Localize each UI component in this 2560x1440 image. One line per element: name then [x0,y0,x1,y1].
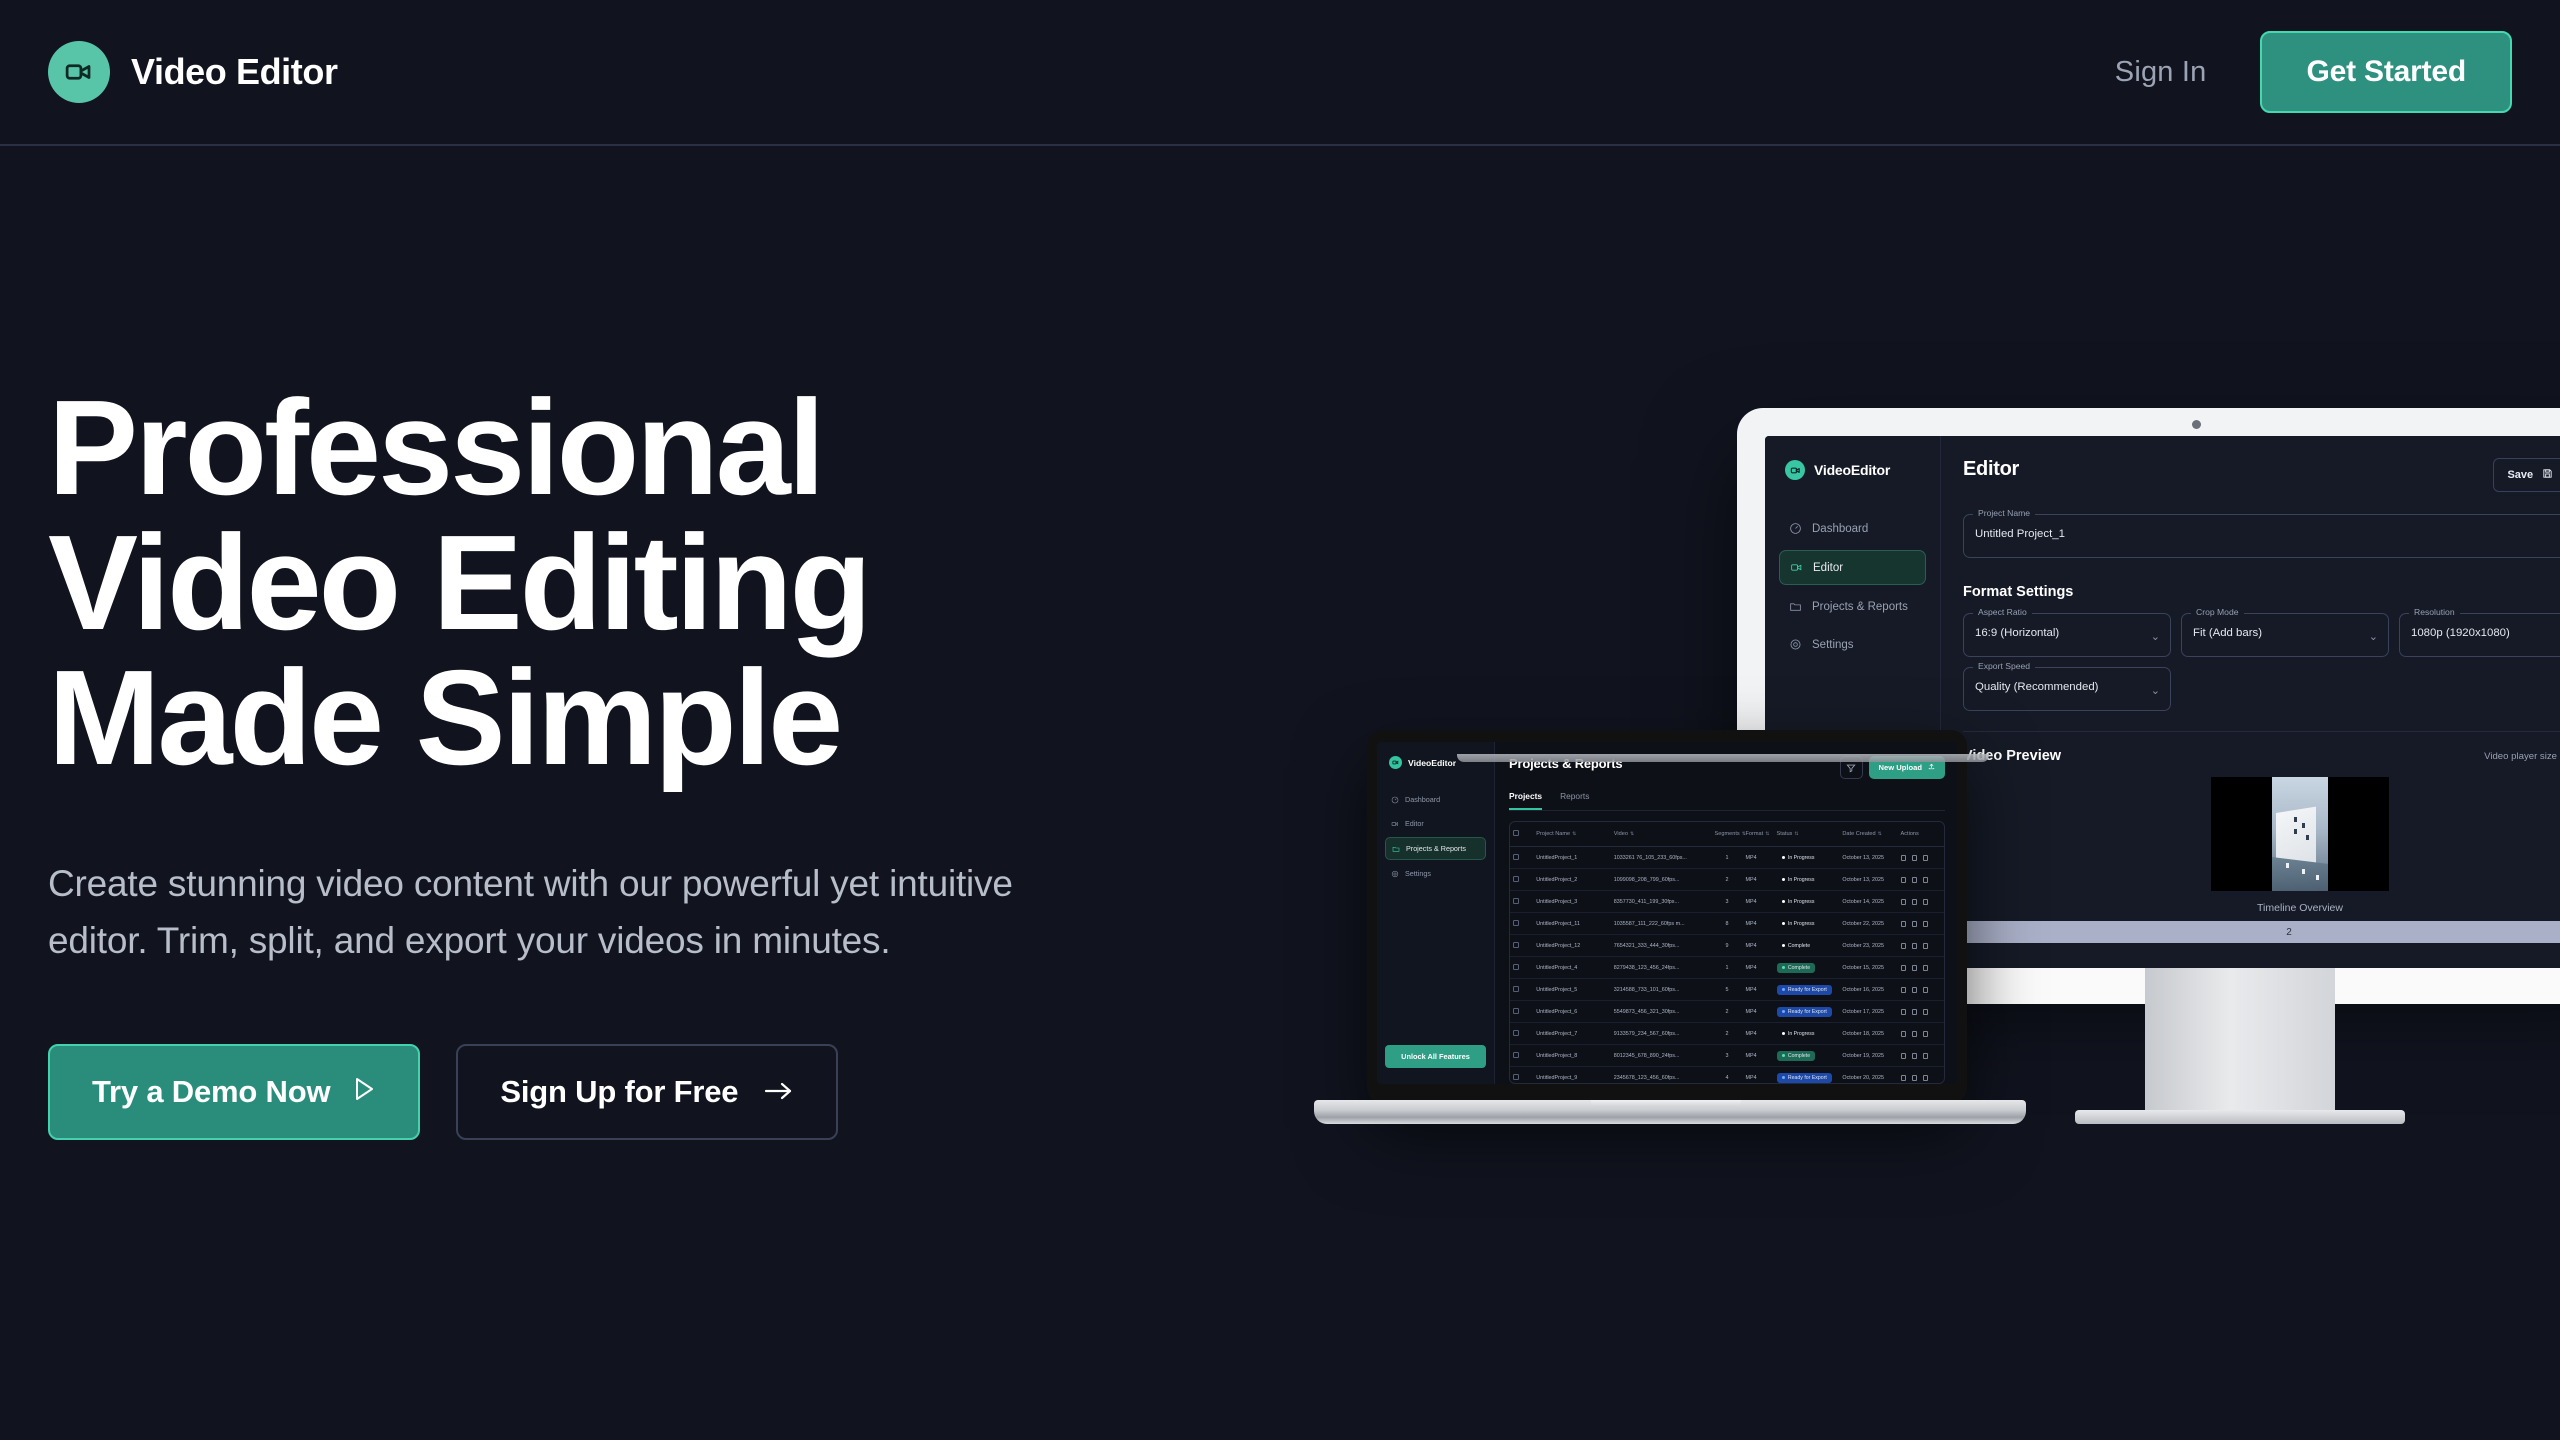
player-size-label: Video player size [2484,751,2557,762]
cell-date-created: October 14, 2025 [1839,891,1897,913]
cell-date-created: October 18, 2025 [1839,1023,1897,1045]
status-badge: In Progress [1777,1029,1820,1039]
row-checkbox-cell[interactable] [1510,891,1533,913]
status-badge: In Progress [1777,919,1820,929]
save-button[interactable]: Save [2493,458,2560,492]
edit-icon[interactable] [1901,987,1906,993]
cell-status: Complete [1774,957,1840,979]
hero-section: Professional Video Editing Made Simple C… [48,380,1148,1140]
status-badge: Ready for Export [1777,985,1832,995]
status-badge: In Progress [1777,853,1820,863]
checkbox-icon[interactable] [1513,942,1519,948]
cell-actions[interactable] [1898,1045,1945,1067]
download-icon[interactable] [1912,965,1917,971]
laptop-sidebar: VideoEditor Dashboard Editor [1377,742,1495,1084]
sidebar-item-label: Editor [1813,562,1843,574]
tab-reports[interactable]: Reports [1560,791,1589,810]
checkbox-icon[interactable] [1513,876,1519,882]
cell-format: MP4 [1743,979,1774,1001]
table-body: UntitledProject_11033261 76_105_233_60fp… [1510,847,1944,1085]
sort-icon: ⇅ [1878,831,1882,837]
cell-segments: 2 [1712,1023,1743,1045]
folder-icon [1392,845,1400,853]
sidebar-item-editor[interactable]: Editor [1385,813,1486,834]
laptop-app-brand-label: VideoEditor [1408,758,1456,768]
col-segments[interactable]: Segments⇅ [1712,822,1743,847]
laptop-lid: VideoEditor Dashboard Editor [1367,730,1967,1104]
monitor-page-title: Editor [1963,458,2019,481]
table-row[interactable]: UntitledProject_111035587_111_222_60fps … [1510,913,1944,935]
checkbox-icon[interactable] [1513,830,1519,836]
table-row[interactable]: UntitledProject_53214588_733_101_60fps..… [1510,979,1944,1001]
format-settings-row-2: Export Speed Quality (Recommended) ⌄ [1963,667,2560,711]
sort-icon: ⇅ [1765,831,1769,837]
laptop-mockup: VideoEditor Dashboard Editor [1367,730,1987,1130]
download-icon[interactable] [1912,877,1917,883]
divider [1963,731,2560,732]
cell-segments: 1 [1712,957,1743,979]
project-name-value: Untitled Project_1 [1975,528,2560,540]
project-name-label: Project Name [1973,508,2035,518]
cell-video: 2345678_123_456_60fps... [1611,1067,1712,1085]
download-icon[interactable] [1912,987,1917,993]
status-badge: Complete [1777,963,1816,973]
cell-format: MP4 [1743,957,1774,979]
sidebar-item-projects-reports[interactable]: Projects & Reports [1385,837,1486,860]
gauge-icon [1391,796,1399,804]
export-speed-value: Quality (Recommended) [1975,681,2159,693]
monitor-app-brand: VideoEditor [1779,460,1926,480]
sidebar-item-label: Settings [1812,639,1854,651]
download-icon[interactable] [1912,921,1917,927]
crop-mode-label: Crop Mode [2191,607,2244,617]
checkbox-icon[interactable] [1513,1052,1519,1058]
delete-icon[interactable] [1923,1031,1928,1037]
video-camera-icon [1790,561,1803,574]
sidebar-item-label: Dashboard [1812,523,1868,535]
edit-icon[interactable] [1901,877,1906,883]
row-checkbox-cell[interactable] [1510,869,1533,891]
col-format[interactable]: Format⇅ [1743,822,1774,847]
cell-date-created: October 19, 2025 [1839,1045,1897,1067]
checkbox-icon[interactable] [1513,1074,1519,1080]
new-upload-label: New Upload [1879,763,1922,772]
hero-cta-group: Try a Demo Now Sign Up for Free [48,1044,1148,1140]
cell-format: MP4 [1743,935,1774,957]
cell-actions[interactable] [1898,1023,1945,1045]
edit-icon[interactable] [1901,921,1906,927]
sidebar-item-label: Dashboard [1405,795,1440,804]
video-preview-player[interactable] [2211,777,2389,891]
cell-format: MP4 [1743,869,1774,891]
cell-project-name: UntitledProject_2 [1533,869,1611,891]
delete-icon[interactable] [1923,943,1928,949]
laptop-base [1314,1100,2026,1124]
sort-icon: ⇅ [1794,831,1798,837]
export-speed-select[interactable]: Export Speed Quality (Recommended) ⌄ [1963,667,2171,711]
delete-icon[interactable] [1923,921,1928,927]
cell-segments: 2 [1712,869,1743,891]
table-row[interactable]: UntitledProject_65549873_456_321_30fps..… [1510,1001,1944,1023]
monitor-main: Editor Save Export Project Name Untitled [1941,436,2560,968]
table-row[interactable]: UntitledProject_38357730_411_199_30fps..… [1510,891,1944,913]
monitor-app-brand-label: VideoEditor [1814,462,1890,478]
cell-project-name: UntitledProject_9 [1533,1067,1611,1085]
laptop-nav: Dashboard Editor Projects & Reports [1385,789,1486,884]
cell-segments: 8 [1712,913,1743,935]
video-preview-header: Video Preview Video player size [1963,748,2560,764]
row-checkbox-cell[interactable] [1510,979,1533,1001]
cell-video: 5549873_456_321_30fps... [1611,1001,1712,1023]
format-settings-title: Format Settings [1963,584,2560,600]
checkbox-icon[interactable] [1513,898,1519,904]
delete-icon[interactable] [1923,1009,1928,1015]
cell-actions[interactable] [1898,1001,1945,1023]
project-name-field[interactable]: Project Name Untitled Project_1 [1963,514,2560,558]
delete-icon[interactable] [1923,877,1928,883]
gauge-icon [1789,522,1802,535]
cell-video: 9133579_234_567_60fps... [1611,1023,1712,1045]
laptop-tabs: Projects Reports [1509,791,1945,811]
edit-icon[interactable] [1901,1053,1906,1059]
checkbox-icon[interactable] [1513,1008,1519,1014]
cell-segments: 4 [1712,1067,1743,1085]
row-checkbox-cell[interactable] [1510,935,1533,957]
edit-icon[interactable] [1901,1031,1906,1037]
hero-subtitle: Create stunning video content with our p… [48,855,1108,970]
cell-project-name: UntitledProject_12 [1533,935,1611,957]
timeline-overview-label: Timeline Overview [1963,902,2560,914]
cell-actions[interactable] [1898,979,1945,1001]
col-date-created[interactable]: Date Created⇅ [1839,822,1897,847]
cell-date-created: October 23, 2025 [1839,935,1897,957]
monitor-nav: Dashboard Editor Projects & Reports Sett… [1779,512,1926,661]
cell-segments: 3 [1712,891,1743,913]
col-project-name[interactable]: Project Name⇅ [1533,822,1611,847]
laptop-main: Projects & Reports New Upload [1495,742,1957,1084]
cell-video: 1035587_111_222_60fps m... [1611,913,1712,935]
hero-title-line-3: Made Simple [48,650,1148,785]
cell-status: Complete [1774,1045,1840,1067]
cell-status: Complete [1774,935,1840,957]
cell-segments: 3 [1712,1045,1743,1067]
crop-mode-value: Fit (Add bars) [2193,627,2377,639]
row-checkbox-cell[interactable] [1510,957,1533,979]
crop-mode-select[interactable]: Crop Mode Fit (Add bars) ⌄ [2181,613,2389,657]
cell-actions[interactable] [1898,1067,1945,1085]
player-size-control[interactable]: Video player size [2484,751,2560,762]
cell-status: In Progress [1774,891,1840,913]
sidebar-item-settings[interactable]: Settings [1385,863,1486,884]
page-title: Professional Video Editing Made Simple [48,380,1148,785]
cell-status: In Progress [1774,847,1840,869]
row-checkbox-cell[interactable] [1510,1023,1533,1045]
cell-status: Ready for Export [1774,979,1840,1001]
cell-video: 7654321_333_444_30fps... [1611,935,1712,957]
cell-segments: 9 [1712,935,1743,957]
cell-project-name: UntitledProject_6 [1533,1001,1611,1023]
sidebar-item-label: Projects & Reports [1812,601,1908,613]
cell-format: MP4 [1743,1001,1774,1023]
edit-icon[interactable] [1901,943,1906,949]
download-icon[interactable] [1912,1053,1917,1059]
resolution-label: Resolution [2409,607,2460,617]
arrow-right-icon [764,1074,794,1110]
unlock-all-features-button[interactable]: Unlock All Features [1385,1045,1486,1068]
cell-date-created: October 20, 2025 [1839,1067,1897,1085]
resolution-select[interactable]: Resolution 1080p (1920x1080) ⌄ [2399,613,2560,657]
monitor-topbar: Editor Save Export [1963,458,2560,492]
checkbox-icon[interactable] [1513,1030,1519,1036]
header-actions: Sign In Get Started [2115,31,2512,113]
cell-video: 8012345_678_890_24fps... [1611,1045,1712,1067]
sign-up-free-button[interactable]: Sign Up for Free [456,1044,838,1140]
tab-projects[interactable]: Projects [1509,791,1542,810]
cell-segments: 2 [1712,1001,1743,1023]
cell-actions[interactable] [1898,957,1945,979]
sidebar-item-label: Projects & Reports [1406,844,1466,853]
table-row[interactable]: UntitledProject_92345678_123_456_60fps..… [1510,1067,1944,1085]
resolution-value: 1080p (1920x1080) [2411,627,2560,639]
download-icon[interactable] [1912,1031,1917,1037]
sidebar-item-editor[interactable]: Editor [1779,550,1926,585]
try-demo-button[interactable]: Try a Demo Now [48,1044,420,1140]
sidebar-item-projects-reports[interactable]: Projects & Reports [1779,590,1926,623]
cell-date-created: October 13, 2025 [1839,869,1897,891]
cell-segments: 5 [1712,979,1743,1001]
upload-icon [1928,763,1935,772]
sidebar-item-label: Editor [1405,819,1424,828]
edit-icon[interactable] [1901,1009,1906,1015]
brand[interactable]: Video Editor [48,41,338,103]
aspect-ratio-value: 16:9 (Horizontal) [1975,627,2159,639]
cell-video: 8279438_123_456_24fps... [1611,957,1712,979]
gear-icon [1391,870,1399,878]
delete-icon[interactable] [1923,855,1928,861]
table-row[interactable]: UntitledProject_48279438_123_456_24fps..… [1510,957,1944,979]
status-badge: Complete [1777,941,1816,951]
edit-icon[interactable] [1901,965,1906,971]
cell-video: 8357730_411_199_30fps... [1611,891,1712,913]
sidebar-item-dashboard[interactable]: Dashboard [1385,789,1486,810]
cell-project-name: UntitledProject_7 [1533,1023,1611,1045]
checkbox-icon[interactable] [1513,920,1519,926]
table-row[interactable]: UntitledProject_79133579_234_567_60fps..… [1510,1023,1944,1045]
table-row[interactable]: UntitledProject_11033261 76_105_233_60fp… [1510,847,1944,869]
checkbox-icon[interactable] [1513,964,1519,970]
checkbox-icon[interactable] [1513,986,1519,992]
cell-project-name: UntitledProject_5 [1533,979,1611,1001]
cell-project-name: UntitledProject_11 [1533,913,1611,935]
video-camera-icon [1391,820,1399,828]
cell-date-created: October 17, 2025 [1839,1001,1897,1023]
get-started-button[interactable]: Get Started [2260,31,2512,113]
video-camera-icon [48,41,110,103]
video-camera-icon [1785,460,1805,480]
sidebar-item-settings[interactable]: Settings [1779,628,1926,661]
col-video[interactable]: Video⇅ [1611,822,1712,847]
cell-project-name: UntitledProject_4 [1533,957,1611,979]
checkbox-icon[interactable] [1513,854,1519,860]
select-all-header[interactable] [1510,822,1533,847]
chevron-down-icon: ⌄ [2151,630,2160,643]
delete-icon[interactable] [1923,987,1928,993]
try-demo-label: Try a Demo Now [92,1074,330,1110]
sign-in-link[interactable]: Sign In [2115,56,2207,89]
cell-video: 1033261 76_105_233_60fps... [1611,847,1712,869]
cell-status: In Progress [1774,1023,1840,1045]
table-row[interactable]: UntitledProject_127654321_333_444_30fps.… [1510,935,1944,957]
cell-actions[interactable] [1898,935,1945,957]
status-badge: Complete [1777,1051,1816,1061]
cell-format: MP4 [1743,1045,1774,1067]
cell-date-created: October 22, 2025 [1839,913,1897,935]
timeline-track[interactable]: 2 [1941,921,2560,943]
sort-icon: ⇅ [1572,831,1576,837]
laptop-screen: VideoEditor Dashboard Editor [1377,742,1957,1084]
cell-status: In Progress [1774,913,1840,935]
delete-icon[interactable] [1923,1075,1928,1081]
cell-format: MP4 [1743,847,1774,869]
video-camera-icon [1389,756,1402,769]
row-checkbox-cell[interactable] [1510,1001,1533,1023]
col-actions: Actions [1898,822,1945,847]
cell-date-created: October 15, 2025 [1839,957,1897,979]
status-badge: In Progress [1777,875,1820,885]
cell-format: MP4 [1743,891,1774,913]
folder-icon [1789,600,1802,613]
cell-format: MP4 [1743,1023,1774,1045]
row-checkbox-cell[interactable] [1510,1067,1533,1085]
download-icon[interactable] [1912,943,1917,949]
cell-actions[interactable] [1898,913,1945,935]
projects-table-wrapper: Project Name⇅ Video⇅ Segments⇅ Format⇅ S… [1509,821,1945,1084]
projects-table: Project Name⇅ Video⇅ Segments⇅ Format⇅ S… [1510,822,1944,1084]
cell-actions[interactable] [1898,847,1945,869]
download-icon[interactable] [1912,1009,1917,1015]
cell-format: MP4 [1743,1067,1774,1085]
cell-project-name: UntitledProject_8 [1533,1045,1611,1067]
cell-video: 3214588_733_101_60fps... [1611,979,1712,1001]
cell-actions[interactable] [1898,869,1945,891]
delete-icon[interactable] [1923,899,1928,905]
status-badge: In Progress [1777,897,1820,907]
sidebar-item-dashboard[interactable]: Dashboard [1779,512,1926,545]
sort-icon: ⇅ [1630,831,1634,837]
cell-status: Ready for Export [1774,1067,1840,1085]
preview-thumbnail [2272,777,2328,891]
gear-icon [1789,638,1802,651]
sidebar-item-label: Settings [1405,869,1431,878]
laptop-foot [1457,754,1989,762]
status-badge: Ready for Export [1777,1073,1832,1083]
table-header: Project Name⇅ Video⇅ Segments⇅ Format⇅ S… [1510,822,1944,847]
status-badge: Ready for Export [1777,1007,1832,1017]
chevron-down-icon: ⌄ [2151,684,2160,697]
save-label: Save [2507,469,2533,481]
cell-status: In Progress [1774,869,1840,891]
edit-icon[interactable] [1901,855,1906,861]
monitor-neck [2145,968,2335,1118]
row-checkbox-cell[interactable] [1510,1045,1533,1067]
cell-segments: 1 [1712,847,1743,869]
format-settings-row-1: Aspect Ratio 16:9 (Horizontal) ⌄ Crop Mo… [1963,613,2560,657]
delete-icon[interactable] [1923,1053,1928,1059]
cell-status: Ready for Export [1774,1001,1840,1023]
download-icon[interactable] [1912,899,1917,905]
monitor-base [2075,1110,2405,1124]
monitor-camera-icon [2192,420,2201,429]
row-checkbox-cell[interactable] [1510,847,1533,869]
download-icon[interactable] [1912,855,1917,861]
cell-date-created: October 16, 2025 [1839,979,1897,1001]
play-triangle-icon [352,1074,376,1110]
hero-title-line-1: Professional [48,380,1148,515]
cell-date-created: October 13, 2025 [1839,847,1897,869]
hero-title-line-2: Video Editing [48,515,1148,650]
cell-project-name: UntitledProject_3 [1533,891,1611,913]
cell-actions[interactable] [1898,891,1945,913]
col-status[interactable]: Status⇅ [1774,822,1840,847]
cell-project-name: UntitledProject_1 [1533,847,1611,869]
table-row[interactable]: UntitledProject_21099098_208_799_60fps..… [1510,869,1944,891]
chevron-down-icon: ⌄ [2369,630,2378,643]
laptop-base-notch [1591,1100,1741,1107]
aspect-ratio-select[interactable]: Aspect Ratio 16:9 (Horizontal) ⌄ [1963,613,2171,657]
brand-name: Video Editor [131,51,338,93]
aspect-ratio-label: Aspect Ratio [1973,607,2032,617]
download-icon[interactable] [1912,1075,1917,1081]
sign-up-label: Sign Up for Free [500,1074,738,1110]
export-speed-label: Export Speed [1973,661,2035,671]
laptop-notch [1604,730,1730,741]
site-header: Video Editor Sign In Get Started [0,0,2560,146]
cell-format: MP4 [1743,913,1774,935]
table-row[interactable]: UntitledProject_88012345_678_890_24fps..… [1510,1045,1944,1067]
monitor-topbar-actions: Save Export [2493,458,2560,492]
floppy-disk-icon [2542,468,2553,482]
edit-icon[interactable] [1901,1075,1906,1081]
row-checkbox-cell[interactable] [1510,913,1533,935]
cell-video: 1099098_208_799_60fps... [1611,869,1712,891]
delete-icon[interactable] [1923,965,1928,971]
edit-icon[interactable] [1901,899,1906,905]
